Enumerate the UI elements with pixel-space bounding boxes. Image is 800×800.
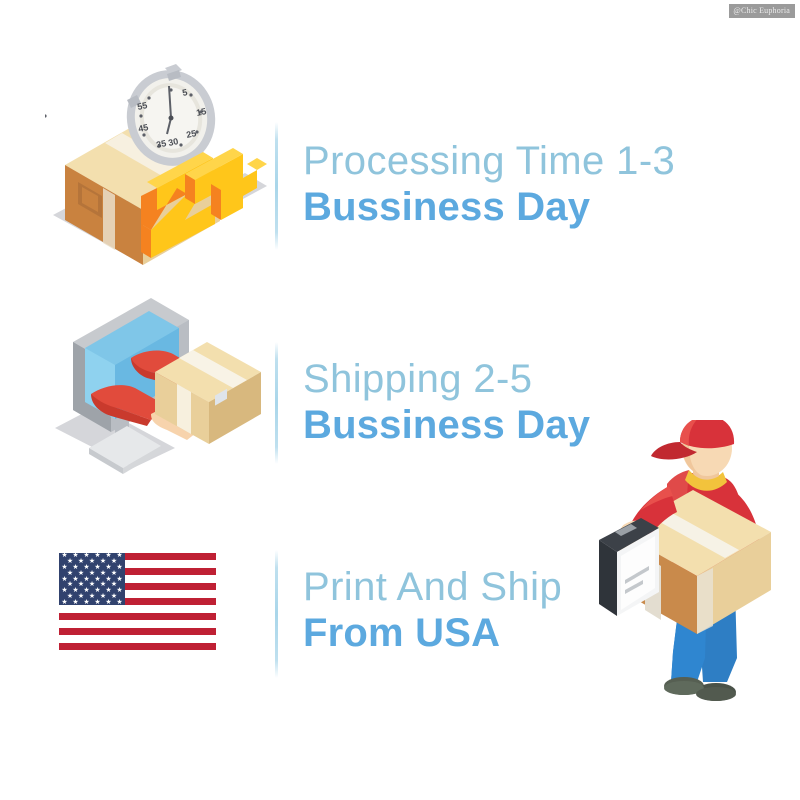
monitor-package-svg [55, 296, 270, 476]
box-stopwatch-svg: 5 15 25 35 30 45 55 [45, 60, 275, 275]
flag-star: ★ [72, 599, 79, 606]
processing-line2: Bussiness Day [303, 184, 675, 230]
processing-line1: Processing Time 1-3 [303, 138, 675, 184]
svg-text:55: 55 [136, 100, 148, 112]
text-shipping: Shipping 2-5 Bussiness Day [303, 356, 590, 448]
watermark: @Chic Euphoria [729, 4, 795, 18]
flag-star: ★ [61, 599, 68, 606]
svg-text:45: 45 [137, 122, 149, 134]
infographic-canvas: @Chic Euphoria [0, 0, 800, 800]
row-processing-time: 5 15 25 35 30 45 55 [0, 60, 800, 290]
svg-text:25: 25 [185, 128, 197, 140]
flag-star: ★ [94, 599, 101, 606]
shipping-line2: Bussiness Day [303, 402, 590, 448]
text-usa: Print And Ship From USA [303, 564, 562, 656]
shipping-line1: Shipping 2-5 [303, 356, 590, 402]
usa-line1: Print And Ship [303, 564, 562, 610]
divider-shipping [275, 342, 278, 464]
flag-star: ★ [105, 599, 112, 606]
flag-canton: ★★★★★★★★★★★★★★★★★★★★★★★★★★★★★★★★★★★★★★★★… [59, 553, 125, 605]
box-with-stopwatch-24-illustration: 5 15 25 35 30 45 55 [45, 60, 275, 275]
text-processing: Processing Time 1-3 Bussiness Day [303, 138, 675, 230]
divider-usa [275, 550, 278, 678]
monitor-hands-delivering-package-illustration [55, 296, 270, 476]
svg-text:30: 30 [167, 136, 179, 148]
svg-text:15: 15 [195, 106, 207, 118]
usa-flag-illustration: ★★★★★★★★★★★★★★★★★★★★★★★★★★★★★★★★★★★★★★★★… [59, 553, 216, 650]
svg-text:35: 35 [155, 138, 167, 150]
flag-star: ★ [116, 599, 123, 606]
divider-processing [275, 122, 278, 250]
courier-svg [585, 420, 800, 710]
usa-line2: From USA [303, 610, 562, 656]
delivery-man-carrying-box-illustration [585, 420, 800, 710]
flag-star: ★ [83, 599, 90, 606]
